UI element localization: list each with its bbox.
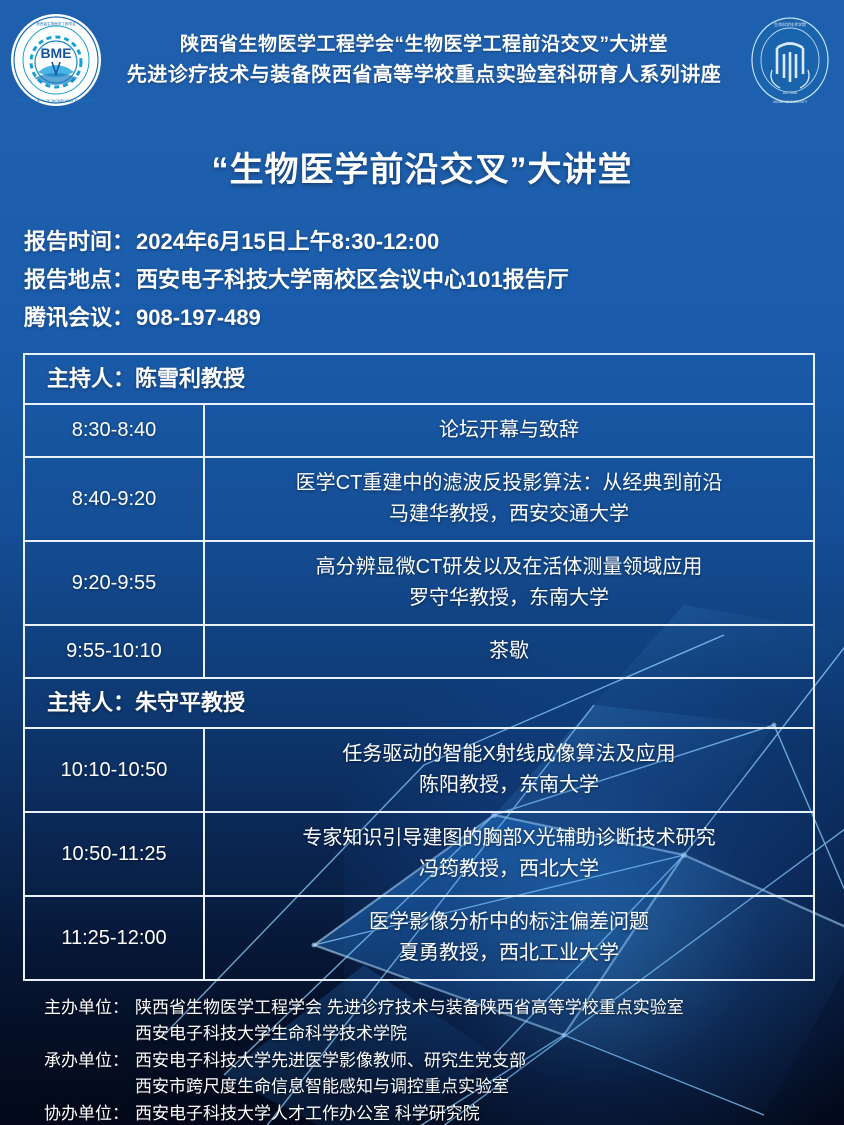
organizer-lines: 陕西省生物医学工程学会 先进诊疗技术与装备陕西省高等学校重点实验室西安电子科技大… [135,995,844,1047]
schedule-table: 主持人：陈雪利教授8:30-8:40论坛开幕与致辞8:40-9:20医学CT重建… [23,353,815,981]
organizer-label: 承办单位： [44,1048,129,1074]
info-label-venue: 报告地点： [24,261,134,299]
schedule-topic-speaker: 夏勇教授，西北工业大学 [399,938,619,969]
schedule-host-label: 主持人：朱守平教授 [25,679,245,727]
svg-text:陕西省生物医学工程学会: 陕西省生物医学工程学会 [36,21,76,26]
organizer-label: 协办单位： [44,1101,129,1125]
schedule-host-row: 主持人：朱守平教授 [25,679,813,729]
info-row-time: 报告时间： 2024年6月15日上午8:30-12:00 [24,223,844,261]
schedule-time-cell: 10:50-11:25 [25,813,205,895]
society-logo-text: BME [40,45,71,61]
organizer-lines: 西安电子科技大学先进医学影像教师、研究生党支部西安市跨尺度生命信息智能感知与调控… [135,1048,844,1100]
info-value-venue: 西安电子科技大学南校区会议中心101报告厅 [136,261,569,299]
schedule-row: 8:40-9:20医学CT重建中的滤波反投影算法：从经典到前沿马建华教授，西安交… [25,458,813,542]
schedule-topic-title: 茶歇 [489,636,529,667]
schedule-topic-cell: 医学CT重建中的滤波反投影算法：从经典到前沿马建华教授，西安交通大学 [205,458,813,540]
event-info-block: 报告时间： 2024年6月15日上午8:30-12:00 报告地点： 西安电子科… [24,223,844,337]
schedule-row: 10:50-11:25专家知识引导建图的胸部X光辅助诊断技术研究冯筠教授，西北大… [25,813,813,897]
schedule-topic-cell: 茶歇 [205,626,813,677]
schedule-time-cell: 8:30-8:40 [25,405,205,456]
organizer-label: 主办单位： [44,995,129,1021]
info-value-meeting-id: 908-197-489 [136,299,261,337]
schedule-topic-speaker: 马建华教授，西安交通大学 [389,499,629,530]
schedule-row: 8:30-8:40论坛开幕与致辞 [25,405,813,458]
schedule-topic-cell: 医学影像分析中的标注偏差问题夏勇教授，西北工业大学 [205,897,813,979]
society-logo: BME 陕西省生物医学工程学会 SHAANXI SOCIETY OF BIOME… [8,12,104,108]
schedule-topic-title: 医学影像分析中的标注偏差问题 [369,907,649,938]
schedule-topic-title: 任务驱动的智能X射线成像算法及应用 [342,739,675,770]
schedule-row: 9:55-10:10茶歇 [25,626,813,679]
info-label-time: 报告时间： [24,223,134,261]
page-title: “生物医学前沿交叉”大讲堂 [0,142,844,191]
schedule-topic-cell: 专家知识引导建图的胸部X光辅助诊断技术研究冯筠教授，西北大学 [205,813,813,895]
poster-header: BME 陕西省生物医学工程学会 SHAANXI SOCIETY OF BIOME… [0,0,844,120]
header-title-block: 陕西省生物医学工程学会“生物医学工程前沿交叉”大讲堂 先进诊疗技术与装备陕西省高… [104,30,744,90]
schedule-host-row: 主持人：陈雪利教授 [25,355,813,405]
info-row-meeting-id: 腾讯会议： 908-197-489 [24,299,844,337]
schedule-topic-speaker: 陈阳教授，东南大学 [419,770,599,801]
schedule-host-label: 主持人：陈雪利教授 [25,355,245,403]
header-line-2: 先进诊疗技术与装备陕西省高等学校重点实验室科研育人系列讲座 [108,60,740,90]
organizer-line: 陕西省生物医学工程学会 先进诊疗技术与装备陕西省高等学校重点实验室 [135,995,844,1021]
organizers-block: 主办单位：陕西省生物医学工程学会 先进诊疗技术与装备陕西省高等学校重点实验室西安… [44,995,844,1125]
schedule-row: 10:10-10:50任务驱动的智能X射线成像算法及应用陈阳教授，东南大学 [25,729,813,813]
schedule-time-cell: 9:55-10:10 [25,626,205,677]
organizer-line: 西安市跨尺度生命信息智能感知与调控重点实验室 [135,1074,844,1100]
schedule-row: 11:25-12:00医学影像分析中的标注偏差问题夏勇教授，西北工业大学 [25,897,813,979]
schedule-time-cell: 8:40-9:20 [25,458,205,540]
schedule-topic-title: 高分辨显微CT研发以及在活体测量领域应用 [316,552,703,583]
info-row-venue: 报告地点： 西安电子科技大学南校区会议中心101报告厅 [24,261,844,299]
organizer-block: 承办单位：西安电子科技大学先进医学影像教师、研究生党支部西安市跨尺度生命信息智能… [44,1048,844,1100]
organizer-line: 西安电子科技大学人才工作办公室 科学研究院 [135,1101,844,1125]
university-logo: 生命科学技术学院 EST. 2009 XIDIAN UNIVERSITY [744,12,836,108]
schedule-row: 9:20-9:55高分辨显微CT研发以及在活体测量领域应用罗守华教授，东南大学 [25,542,813,626]
schedule-topic-title: 医学CT重建中的滤波反投影算法：从经典到前沿 [296,468,723,499]
organizer-lines: 西安电子科技大学人才工作办公室 科学研究院分子与神经影像教育部工程研究中心 陕西… [135,1101,844,1125]
schedule-topic-title: 论坛开幕与致辞 [439,415,579,446]
schedule-time-cell: 11:25-12:00 [25,897,205,979]
svg-text:生命科学技术学院: 生命科学技术学院 [774,21,806,27]
header-line-1: 陕西省生物医学工程学会“生物医学工程前沿交叉”大讲堂 [108,30,740,60]
schedule-topic-cell: 论坛开幕与致辞 [205,405,813,456]
organizer-block: 协办单位：西安电子科技大学人才工作办公室 科学研究院分子与神经影像教育部工程研究… [44,1101,844,1125]
organizer-block: 主办单位：陕西省生物医学工程学会 先进诊疗技术与装备陕西省高等学校重点实验室西安… [44,995,844,1047]
schedule-topic-cell: 高分辨显微CT研发以及在活体测量领域应用罗守华教授，东南大学 [205,542,813,624]
schedule-topic-speaker: 冯筠教授，西北大学 [419,854,599,885]
organizer-line: 西安电子科技大学生命科学技术学院 [135,1021,844,1047]
svg-text:XIDIAN UNIVERSITY: XIDIAN UNIVERSITY [773,100,808,104]
info-label-meeting-id: 腾讯会议： [24,299,134,337]
schedule-topic-speaker: 罗守华教授，东南大学 [409,583,609,614]
schedule-time-cell: 10:10-10:50 [25,729,205,811]
svg-text:EST. 2009: EST. 2009 [783,91,797,95]
organizer-line: 西安电子科技大学先进医学影像教师、研究生党支部 [135,1048,844,1074]
svg-text:SHAANXI SOCIETY OF BIOMEDICAL: SHAANXI SOCIETY OF BIOMEDICAL ENGINEERIN… [12,99,100,103]
schedule-topic-title: 专家知识引导建图的胸部X光辅助诊断技术研究 [302,823,715,854]
schedule-time-cell: 9:20-9:55 [25,542,205,624]
schedule-topic-cell: 任务驱动的智能X射线成像算法及应用陈阳教授，东南大学 [205,729,813,811]
info-value-time: 2024年6月15日上午8:30-12:00 [136,223,439,261]
